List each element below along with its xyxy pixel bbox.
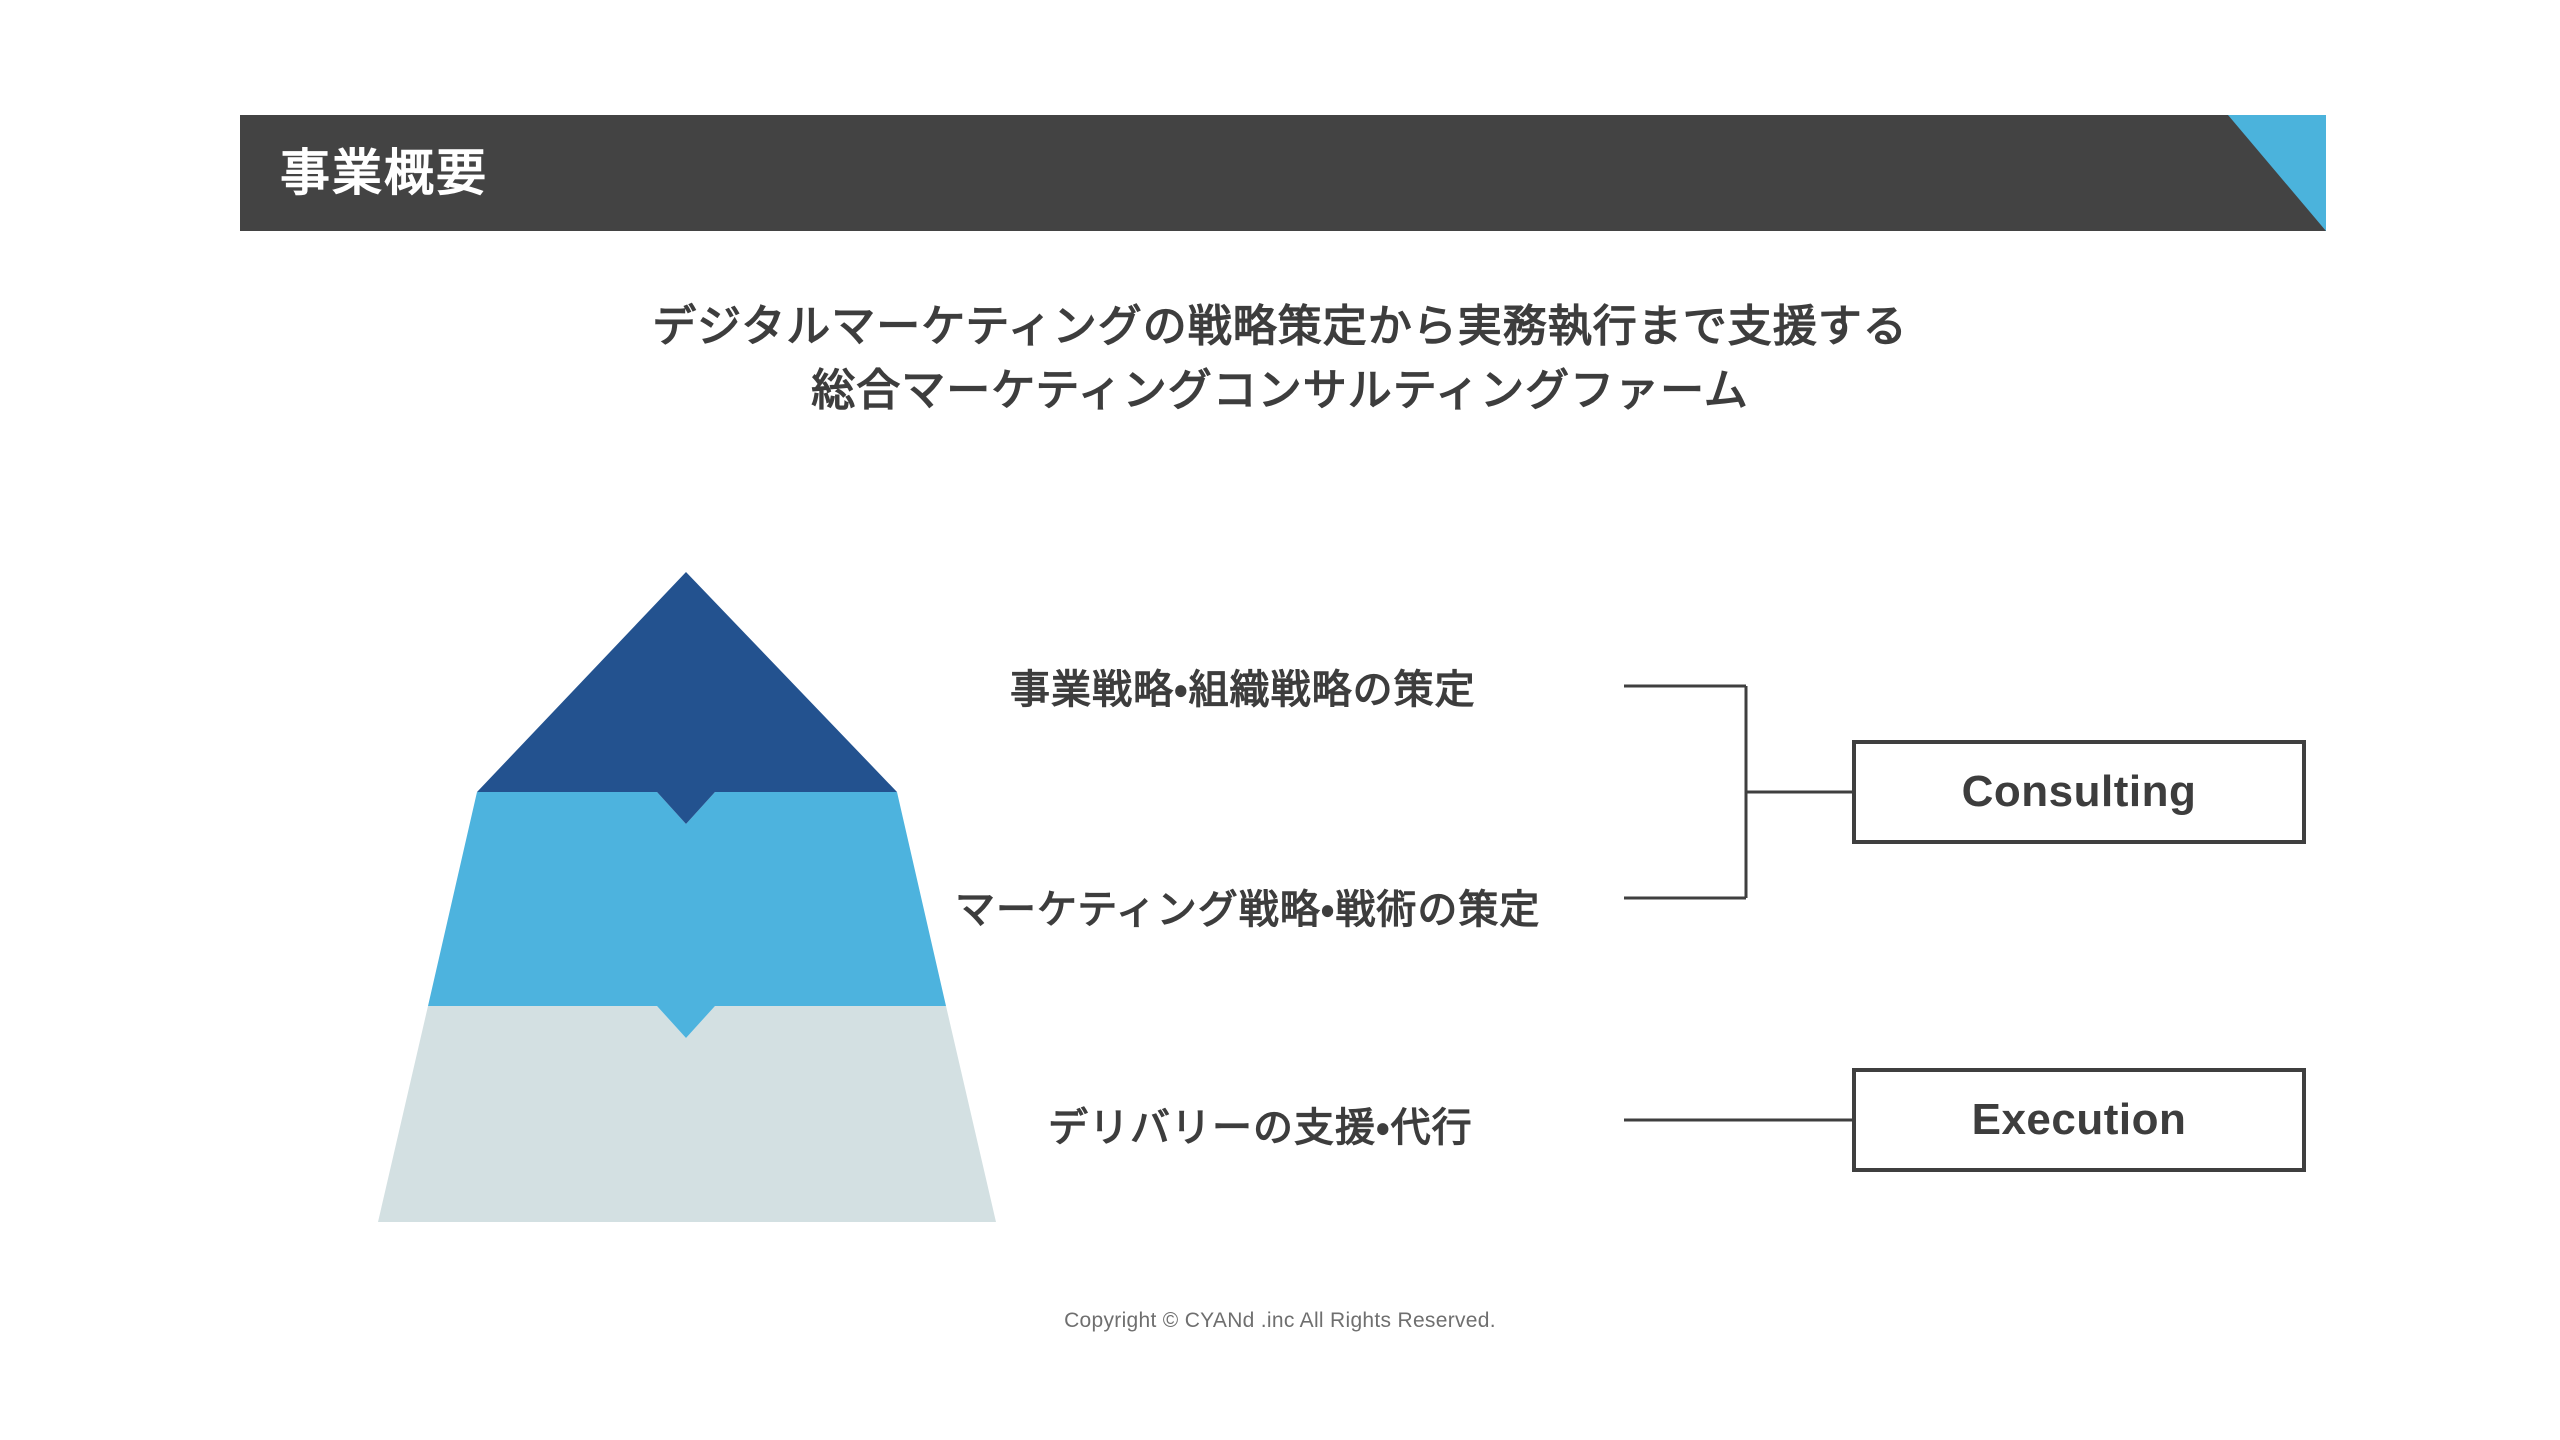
slide-canvas: 事業概要 デジタルマーケティングの戦略策定から実務執行まで支援する 総合マーケテ…	[0, 0, 2560, 1440]
category-label-execution: Execution	[1972, 1098, 2187, 1142]
category-label-consulting: Consulting	[1962, 770, 2197, 814]
subtitle-block: デジタルマーケティングの戦略策定から実務執行まで支援する 総合マーケティングコン…	[0, 295, 2560, 423]
banner-accent-triangle-icon	[2166, 115, 2326, 231]
connector-consulting	[1624, 686, 1852, 898]
title-banner: 事業概要	[240, 115, 2326, 231]
category-box-consulting: Consulting	[1852, 740, 2306, 844]
footer-copyright: Copyright © CYANd .inc All Rights Reserv…	[0, 1310, 2560, 1331]
pyramid-tier-strategy	[477, 572, 897, 824]
tier-label-delivery: デリバリーの支援・代行	[1048, 1108, 1473, 1148]
pyramid-tier-marketing	[428, 792, 946, 1038]
pyramid-tier-delivery	[378, 1006, 996, 1222]
page-title: 事業概要	[280, 148, 488, 198]
tier-label-strategy: 事業戦略・組織戦略の策定	[1010, 670, 1476, 710]
tier-label-marketing: マーケティング戦略・戦術の策定	[955, 890, 1540, 930]
subtitle-line-1: デジタルマーケティングの戦略策定から実務執行まで支援する	[0, 295, 2560, 359]
subtitle-line-2: 総合マーケティングコンサルティングファーム	[0, 359, 2560, 423]
category-box-execution: Execution	[1852, 1068, 2306, 1172]
